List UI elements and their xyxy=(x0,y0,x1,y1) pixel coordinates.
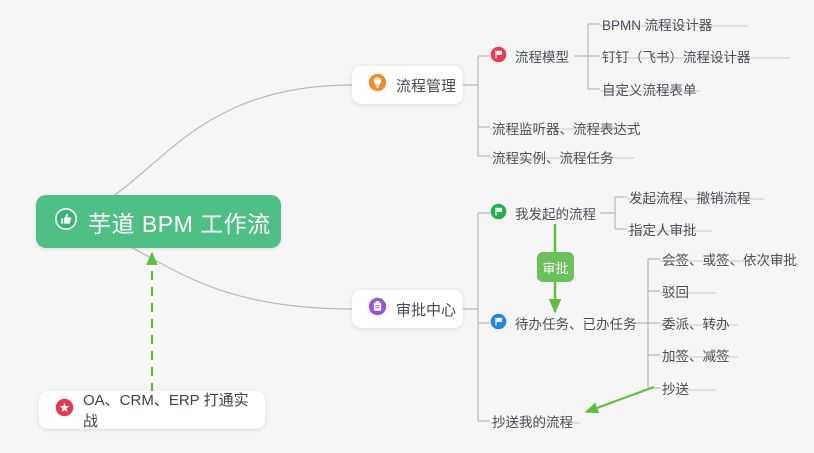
node-label-reject: 驳回 xyxy=(662,281,689,301)
flag-red-icon xyxy=(490,46,507,66)
node-label-designated-approver: 指定人审批 xyxy=(629,219,697,239)
node-cc-to-me[interactable]: 抄送我的流程 xyxy=(492,411,573,435)
node-label-cc-to-me: 抄送我的流程 xyxy=(492,411,573,431)
node-label-listener-expression: 流程监听器、流程表达式 xyxy=(492,118,641,138)
node-label-add-remove-sign: 加签、减签 xyxy=(662,345,730,365)
approval-tag-label: 审批 xyxy=(542,258,568,277)
thumbs-up-icon xyxy=(54,207,78,236)
flag-green-icon xyxy=(490,203,507,223)
node-bpmn-designer[interactable]: BPMN 流程设计器 xyxy=(602,14,712,38)
flag-blue-icon xyxy=(490,313,507,333)
node-listener-expression[interactable]: 流程监听器、流程表达式 xyxy=(492,118,641,142)
node-label-dingtalk-feishu-designer: 钉钉（飞书）流程设计器 xyxy=(602,46,751,66)
node-reject[interactable]: 驳回 xyxy=(662,281,689,305)
node-process-model[interactable]: 流程模型 xyxy=(490,46,569,70)
callout-label-integration: OA、CRM、ERP 打通实战 xyxy=(83,389,249,431)
node-label-countersign: 会签、或签、依次审批 xyxy=(662,249,797,269)
node-start-cancel[interactable]: 发起流程、撤销流程 xyxy=(629,187,751,211)
node-label-cc: 抄送 xyxy=(662,378,689,398)
node-cc[interactable]: 抄送 xyxy=(662,378,689,402)
callout-node-integration[interactable]: OA、CRM、ERP 打通实战 xyxy=(39,391,265,429)
node-label-delegate-transfer: 委派、转办 xyxy=(662,313,730,333)
node-label-instance-task: 流程实例、流程任务 xyxy=(492,147,614,167)
branch-label-process-management: 流程管理 xyxy=(396,75,456,96)
node-label-start-cancel: 发起流程、撤销流程 xyxy=(629,187,751,207)
node-label-my-initiated: 我发起的流程 xyxy=(515,203,596,223)
node-delegate-transfer[interactable]: 委派、转办 xyxy=(662,313,730,337)
node-countersign[interactable]: 会签、或签、依次审批 xyxy=(662,249,797,273)
clipboard-icon xyxy=(368,297,387,321)
node-label-process-model: 流程模型 xyxy=(515,46,569,66)
node-dingtalk-feishu-designer[interactable]: 钉钉（飞书）流程设计器 xyxy=(602,46,751,70)
node-my-initiated[interactable]: 我发起的流程 xyxy=(490,203,596,227)
star-icon xyxy=(55,398,74,422)
node-label-custom-process-form: 自定义流程表单 xyxy=(602,79,697,99)
node-instance-task[interactable]: 流程实例、流程任务 xyxy=(492,147,614,171)
branch-node-process-management[interactable]: 流程管理 xyxy=(352,66,463,104)
approval-tag[interactable]: 审批 xyxy=(537,252,574,282)
root-node[interactable]: 芋道 BPM 工作流 xyxy=(36,195,281,248)
node-label-bpmn-designer: BPMN 流程设计器 xyxy=(602,14,712,34)
branch-node-approval-center[interactable]: 审批中心 xyxy=(352,290,463,328)
node-custom-process-form[interactable]: 自定义流程表单 xyxy=(602,79,697,103)
annotation-arrow-cc-to-ccme xyxy=(586,387,654,412)
node-todo-done-tasks[interactable]: 待办任务、已办任务 xyxy=(490,313,637,337)
node-label-todo-done-tasks: 待办任务、已办任务 xyxy=(515,313,637,333)
root-label: 芋道 BPM 工作流 xyxy=(88,205,271,239)
node-designated-approver[interactable]: 指定人审批 xyxy=(629,219,697,243)
branch-label-approval-center: 审批中心 xyxy=(396,299,456,320)
mindmap-canvas: 芋道 BPM 工作流 流程管理 流程模型 流程监听器、流程表达式 流程实例、流 xyxy=(0,0,814,453)
node-add-remove-sign[interactable]: 加签、减签 xyxy=(662,345,730,369)
lightbulb-icon xyxy=(368,73,387,97)
